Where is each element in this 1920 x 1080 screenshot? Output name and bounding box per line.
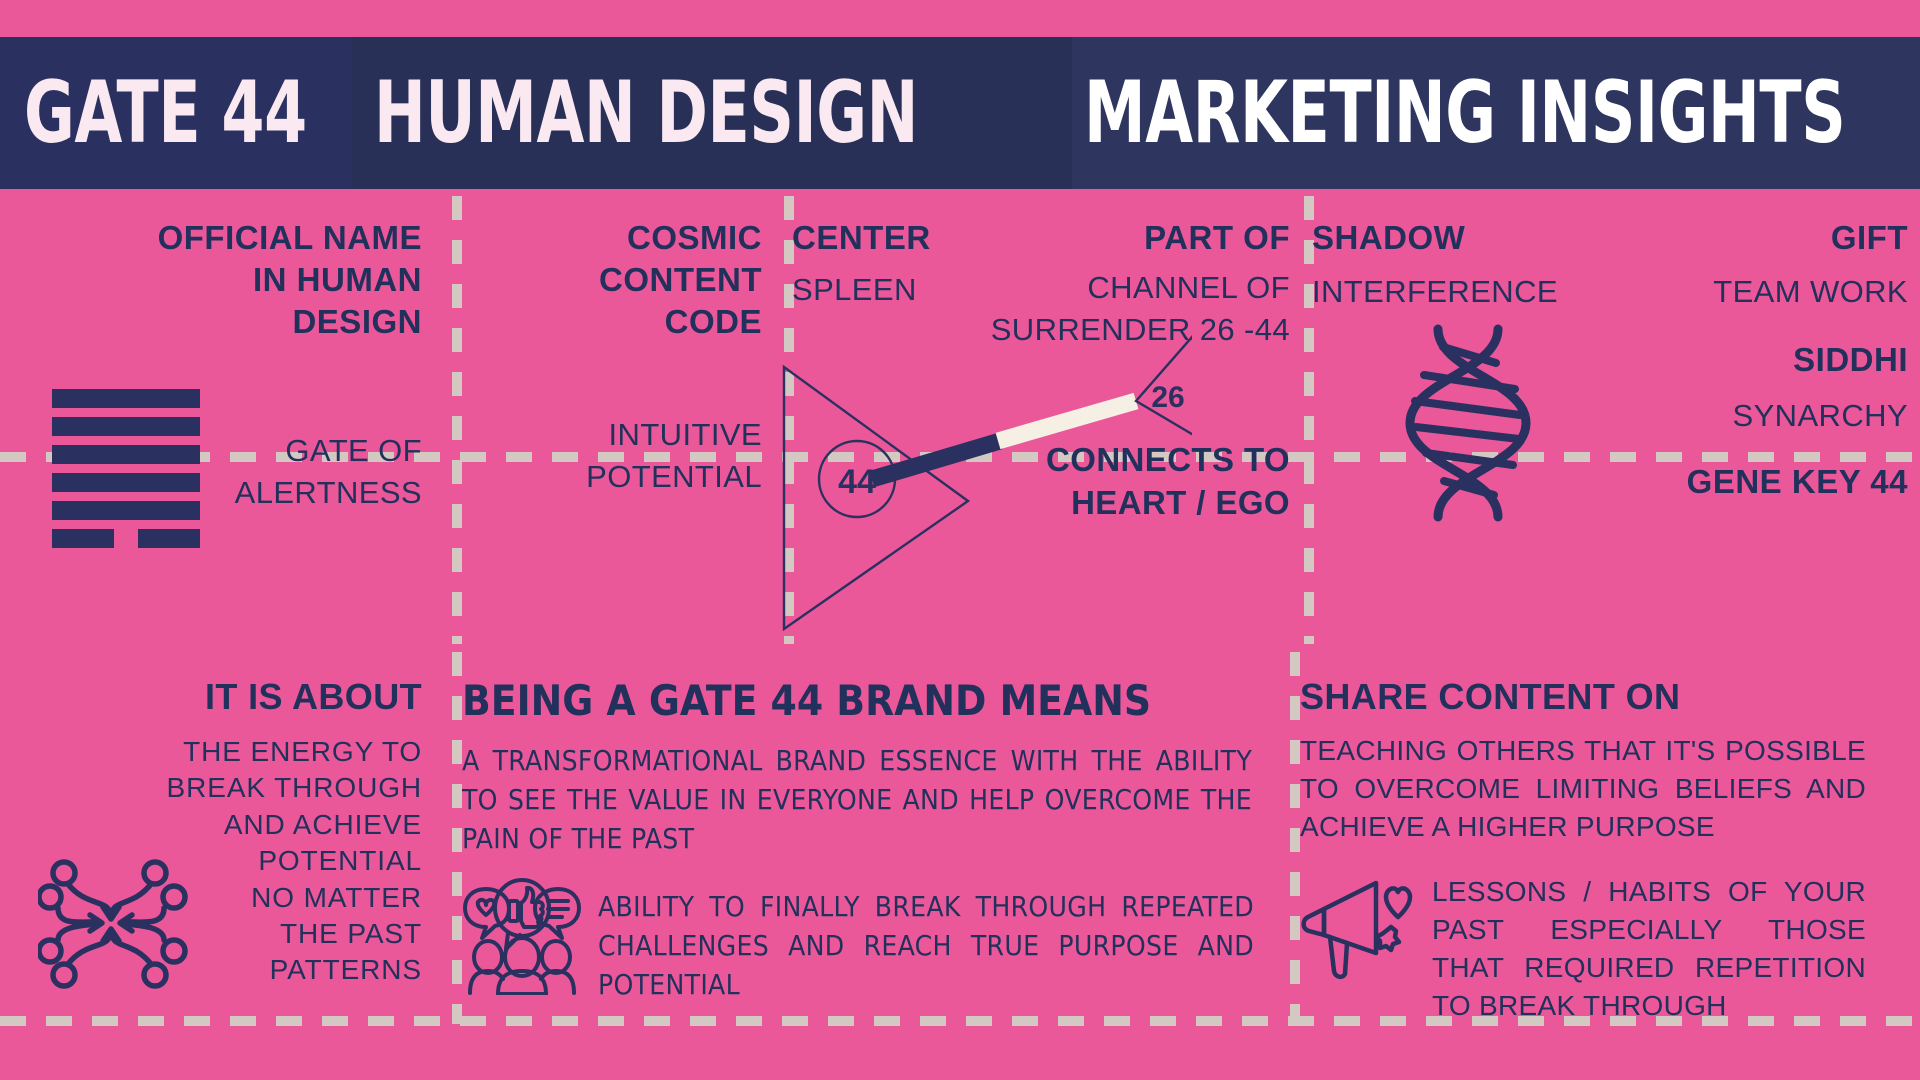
social-engagement-icon [462, 877, 582, 995]
brand-means-paragraph2: ABILITY TO FINALLY BREAK THROUGH REPEATE… [598, 877, 1254, 1005]
section-cosmic-content-code: COSMIC CONTENT CODE INTUITIVE POTENTIAL [460, 217, 784, 497]
header-gate-segment: GATE 44 [0, 37, 352, 189]
cosmic-code-value: INTUITIVE POTENTIAL [460, 414, 784, 498]
header-system-label: HUMAN DESIGN [374, 70, 918, 156]
gate-44-triangle [784, 367, 968, 629]
brand-means-heading: BEING A GATE 44 BRAND MEANS [462, 676, 1290, 725]
section-gift: GIFT TEAM WORK SIDDHI SYNARCHY GENE KEY … [1590, 217, 1908, 503]
share-content-second-block: LESSONS / HABITS OF YOUR PAST ESPECIALLY… [1300, 867, 1920, 1024]
channel-bar-cream [998, 401, 1136, 441]
share-content-paragraph2: LESSONS / HABITS OF YOUR PAST ESPECIALLY… [1432, 867, 1866, 1024]
header-gate-label: GATE 44 [24, 70, 307, 156]
brand-means-paragraph: A TRANSFORMATIONAL BRAND ESSENCE WITH TH… [462, 741, 1252, 859]
infographic-board: OFFICIAL NAME IN HUMAN DESIGN GATE OF AL… [0, 189, 1920, 1080]
section-official-name: OFFICIAL NAME IN HUMAN DESIGN GATE OF AL… [0, 217, 452, 513]
siddhi-value: SYNARCHY [1590, 395, 1908, 437]
part-of-heading: PART OF [980, 217, 1290, 259]
brand-means-second-block: ABILITY TO FINALLY BREAK THROUGH REPEATE… [462, 877, 1290, 1005]
gate-26-number: 26 [1151, 381, 1184, 414]
shadow-heading: SHADOW [1312, 217, 1582, 259]
gift-value: TEAM WORK [1590, 271, 1908, 313]
section-brand-means: BEING A GATE 44 BRAND MEANS A TRANSFORMA… [462, 676, 1290, 1004]
header-topic-segment: MARKETING INSIGHTS [1072, 37, 1920, 189]
share-content-paragraph: TEACHING OTHERS THAT IT'S POSSIBLE TO OV… [1300, 732, 1866, 845]
section-it-is-about: IT IS ABOUT THE ENERGY TO BREAK THROUGH … [0, 676, 452, 989]
official-name-heading: OFFICIAL NAME IN HUMAN DESIGN [0, 217, 452, 344]
section-share-content-on: SHARE CONTENT ON TEACHING OTHERS THAT IT… [1300, 676, 1920, 1025]
dna-helix-icon [1380, 319, 1555, 549]
it-is-about-heading: IT IS ABOUT [0, 676, 452, 718]
page-header: GATE 44 HUMAN DESIGN MARKETING INSIGHTS [0, 37, 1920, 189]
shadow-value: INTERFERENCE [1312, 271, 1582, 313]
cosmic-code-heading: COSMIC CONTENT CODE [460, 217, 784, 344]
megaphone-icon [1300, 867, 1418, 985]
hexagram-line-yang [52, 417, 200, 436]
hexagram-line-yang [52, 501, 200, 520]
connects-to-label: CONNECTS TO HEART / EGO [990, 439, 1290, 525]
center-value: SPLEEN [792, 269, 1002, 311]
hexagram-icon [52, 389, 200, 548]
subsection-center: CENTER SPLEEN [792, 217, 1002, 311]
header-topic-label: MARKETING INSIGHTS [1084, 70, 1845, 156]
hexagram-line-yang [52, 473, 200, 492]
siddhi-heading: SIDDHI [1590, 339, 1908, 381]
share-content-heading: SHARE CONTENT ON [1300, 676, 1920, 718]
gene-key-heading: GENE KEY 44 [1590, 461, 1908, 503]
hexagram-line-yang [52, 389, 200, 408]
gift-heading: GIFT [1590, 217, 1908, 259]
header-system-segment: HUMAN DESIGN [352, 37, 1072, 189]
hexagram-line-yin [52, 529, 200, 548]
center-heading: CENTER [792, 217, 1002, 259]
converging-arrows-icon [38, 849, 188, 999]
hexagram-line-yang [52, 445, 200, 464]
section-shadow: SHADOW INTERFERENCE [1312, 217, 1582, 313]
gate-44-number: 44 [838, 463, 876, 501]
